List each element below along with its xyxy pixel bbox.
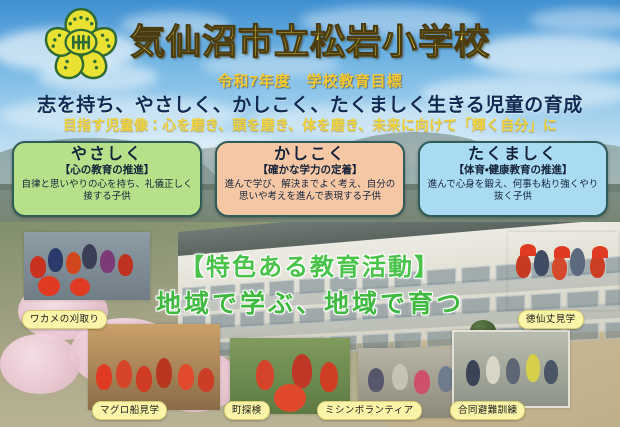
person-figure	[466, 360, 480, 386]
window	[210, 284, 235, 301]
window	[269, 309, 295, 326]
window	[330, 305, 357, 323]
window	[394, 301, 422, 319]
cherry-blossom-tree	[0, 334, 80, 394]
red-cap	[554, 246, 570, 258]
person-figure	[544, 360, 558, 384]
window	[394, 332, 422, 350]
person-figure	[534, 250, 549, 276]
window	[299, 277, 325, 295]
person-figure	[292, 354, 312, 388]
school-banner: 気仙沼市立松岩小学校 令和7年度 学校教育目標 志を持ち、やさしく、かしこく、た…	[0, 0, 620, 427]
person-figure	[552, 256, 567, 280]
person-figure	[136, 366, 152, 392]
window	[427, 299, 456, 317]
photo-tuna-boat-tour	[88, 324, 220, 410]
person-figure	[320, 362, 338, 392]
window	[461, 265, 491, 284]
window	[182, 286, 206, 303]
education-goal-text: 志を持ち、やさしく、かしこく、たくましく生きる児童の育成	[0, 90, 620, 117]
person-figure	[506, 358, 520, 384]
target-student-image-text: 目指す児童像：心を磨き、頭を磨き、体を磨き、未来に向けて「輝く自分」に	[0, 115, 620, 135]
person-figure	[66, 252, 81, 274]
red-cap	[520, 244, 536, 256]
person-figure	[30, 256, 46, 278]
window	[330, 275, 357, 293]
caption-wakame-harvest: ワカメの刈取り	[22, 310, 107, 329]
goal-box-yasashiku: やさしく 【心の教育の推進】 自律と思いやりの心を持ち、礼儀正しく接する子供	[12, 141, 202, 217]
window	[394, 270, 422, 288]
person-figure	[526, 354, 540, 382]
person-figure	[82, 244, 97, 269]
window	[461, 297, 491, 315]
person-figure	[486, 356, 500, 384]
goal-box-kashikoku: かしこく 【確かな学力の定着】 進んで学び、解決までよく考え、自分の思いや考えを…	[215, 141, 405, 217]
person-figure	[368, 368, 384, 392]
person-figure	[516, 254, 531, 278]
goal-box-group: やさしく 【心の教育の推進】 自律と思いやりの心を持ち、礼儀正しく接する子供 か…	[12, 141, 608, 217]
person-figure	[392, 364, 408, 390]
red-umbrella	[274, 384, 306, 412]
person-figure	[178, 364, 194, 390]
caption-evacuation-drill: 合同避難訓練	[450, 401, 525, 420]
person-figure	[116, 360, 132, 388]
person-figure	[156, 358, 172, 388]
goal-box-description: 進んで心身を鍛え、何事も粘り強くやり抜く子供	[425, 179, 601, 203]
person-figure	[96, 364, 112, 390]
person-figure	[48, 248, 63, 272]
caption-sewing-volunteers: ミシンボランティア	[317, 401, 422, 420]
person-figure	[118, 254, 133, 276]
person-figure	[570, 248, 585, 276]
red-cap	[70, 278, 90, 296]
window	[361, 303, 389, 321]
red-cap	[38, 276, 60, 296]
goal-box-subtitle: 【確かな学力の定着】	[222, 164, 398, 178]
goal-box-title: たくましく	[425, 146, 601, 164]
goal-box-subtitle: 【心の教育の推進】	[19, 164, 195, 178]
window	[299, 307, 325, 324]
window	[604, 321, 620, 340]
goal-box-description: 進んで学び、解決までよく考え、自分の思いや考えを進んで表現する子供	[222, 179, 398, 203]
window	[269, 280, 295, 297]
window	[239, 282, 264, 299]
person-figure	[414, 370, 430, 394]
goal-box-title: かしこく	[222, 146, 398, 164]
caption-tuna-boat-tour: マグロ船見学	[92, 401, 167, 420]
window	[361, 273, 389, 291]
window	[427, 268, 456, 287]
photo-tokusenjo-excursion	[508, 232, 618, 310]
school-year-heading: 令和7年度 学校教育目標	[0, 70, 620, 91]
photo-wakame-harvest	[24, 232, 150, 300]
goal-box-takumashiku: たくましく 【体育・健康教育の推進】 進んで心身を鍛え、何事も粘り強くやり抜く子…	[418, 141, 608, 217]
page-title: 気仙沼市立松岩小学校	[0, 14, 620, 65]
caption-town-exploration: 町探検	[224, 401, 270, 420]
person-figure	[100, 250, 115, 273]
person-figure	[256, 360, 274, 390]
goal-box-subtitle: 【体育・健康教育の推進】	[425, 164, 601, 178]
photo-evacuation-drill	[452, 330, 570, 408]
window	[239, 311, 264, 328]
person-figure	[198, 368, 214, 392]
goal-box-title: やさしく	[19, 146, 195, 164]
goal-box-description: 自律と思いやりの心を持ち、礼儀正しく接する子供	[19, 179, 195, 203]
caption-tokusenjo-excursion: 徳仙丈見学	[518, 310, 584, 329]
red-cap	[592, 246, 608, 258]
